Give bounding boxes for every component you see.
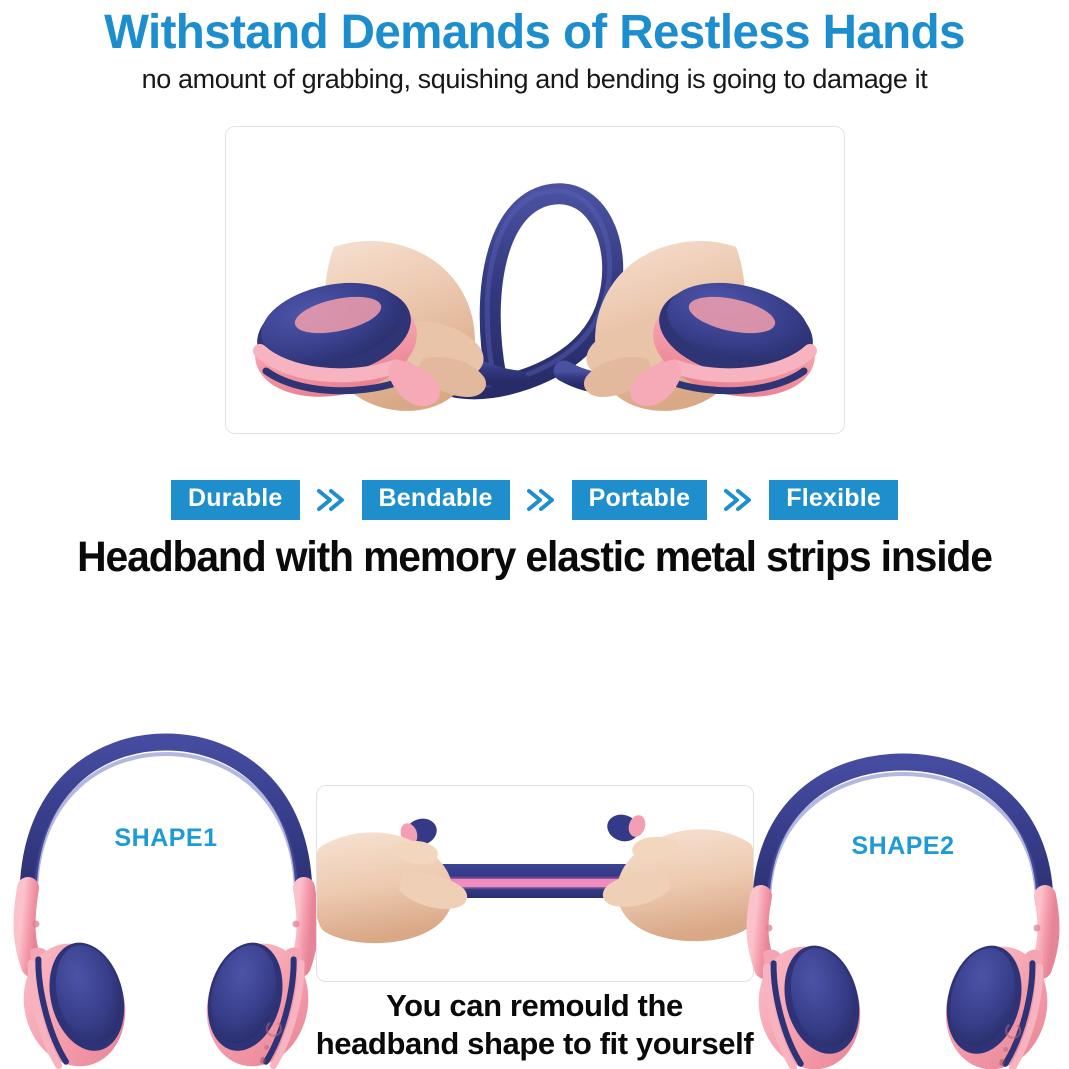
- page-title: Withstand Demands of Restless Hands: [5, 8, 1063, 58]
- badge-bendable[interactable]: Bendable: [362, 480, 510, 520]
- bottom-caption: You can remould the headband shape to fi…: [0, 987, 1069, 1063]
- photo-panel-stretch-demo: [316, 785, 754, 982]
- photo-panel-bending-demo: [225, 126, 845, 434]
- badge-portable[interactable]: Portable: [572, 480, 708, 520]
- double-chevron-right-icon: [524, 486, 558, 514]
- header: Withstand Demands of Restless Hands no a…: [0, 0, 1069, 95]
- caption-line-2: headband shape to fit yourself: [0, 1025, 1069, 1063]
- shape1-label: SHAPE1: [6, 824, 326, 853]
- page-subtitle: no amount of grabbing, squishing and ben…: [0, 64, 1069, 95]
- strapline: Headband with memory elastic metal strip…: [27, 533, 1043, 582]
- stretching-headband-illustration: [317, 786, 753, 981]
- feature-badge-row: Durable Bendable Portable Flexible: [0, 480, 1069, 520]
- caption-line-1: You can remould the: [0, 987, 1069, 1025]
- bottom-section: SHAPE1: [0, 700, 1069, 1069]
- badge-flexible[interactable]: Flexible: [769, 480, 898, 520]
- double-chevron-right-icon: [721, 486, 755, 514]
- badge-durable[interactable]: Durable: [171, 480, 299, 520]
- left-hand: [317, 832, 467, 943]
- shape2-label: SHAPE2: [743, 832, 1063, 861]
- double-chevron-right-icon: [314, 486, 348, 514]
- bending-headphones-illustration: [226, 127, 844, 433]
- right-hand: [603, 829, 753, 941]
